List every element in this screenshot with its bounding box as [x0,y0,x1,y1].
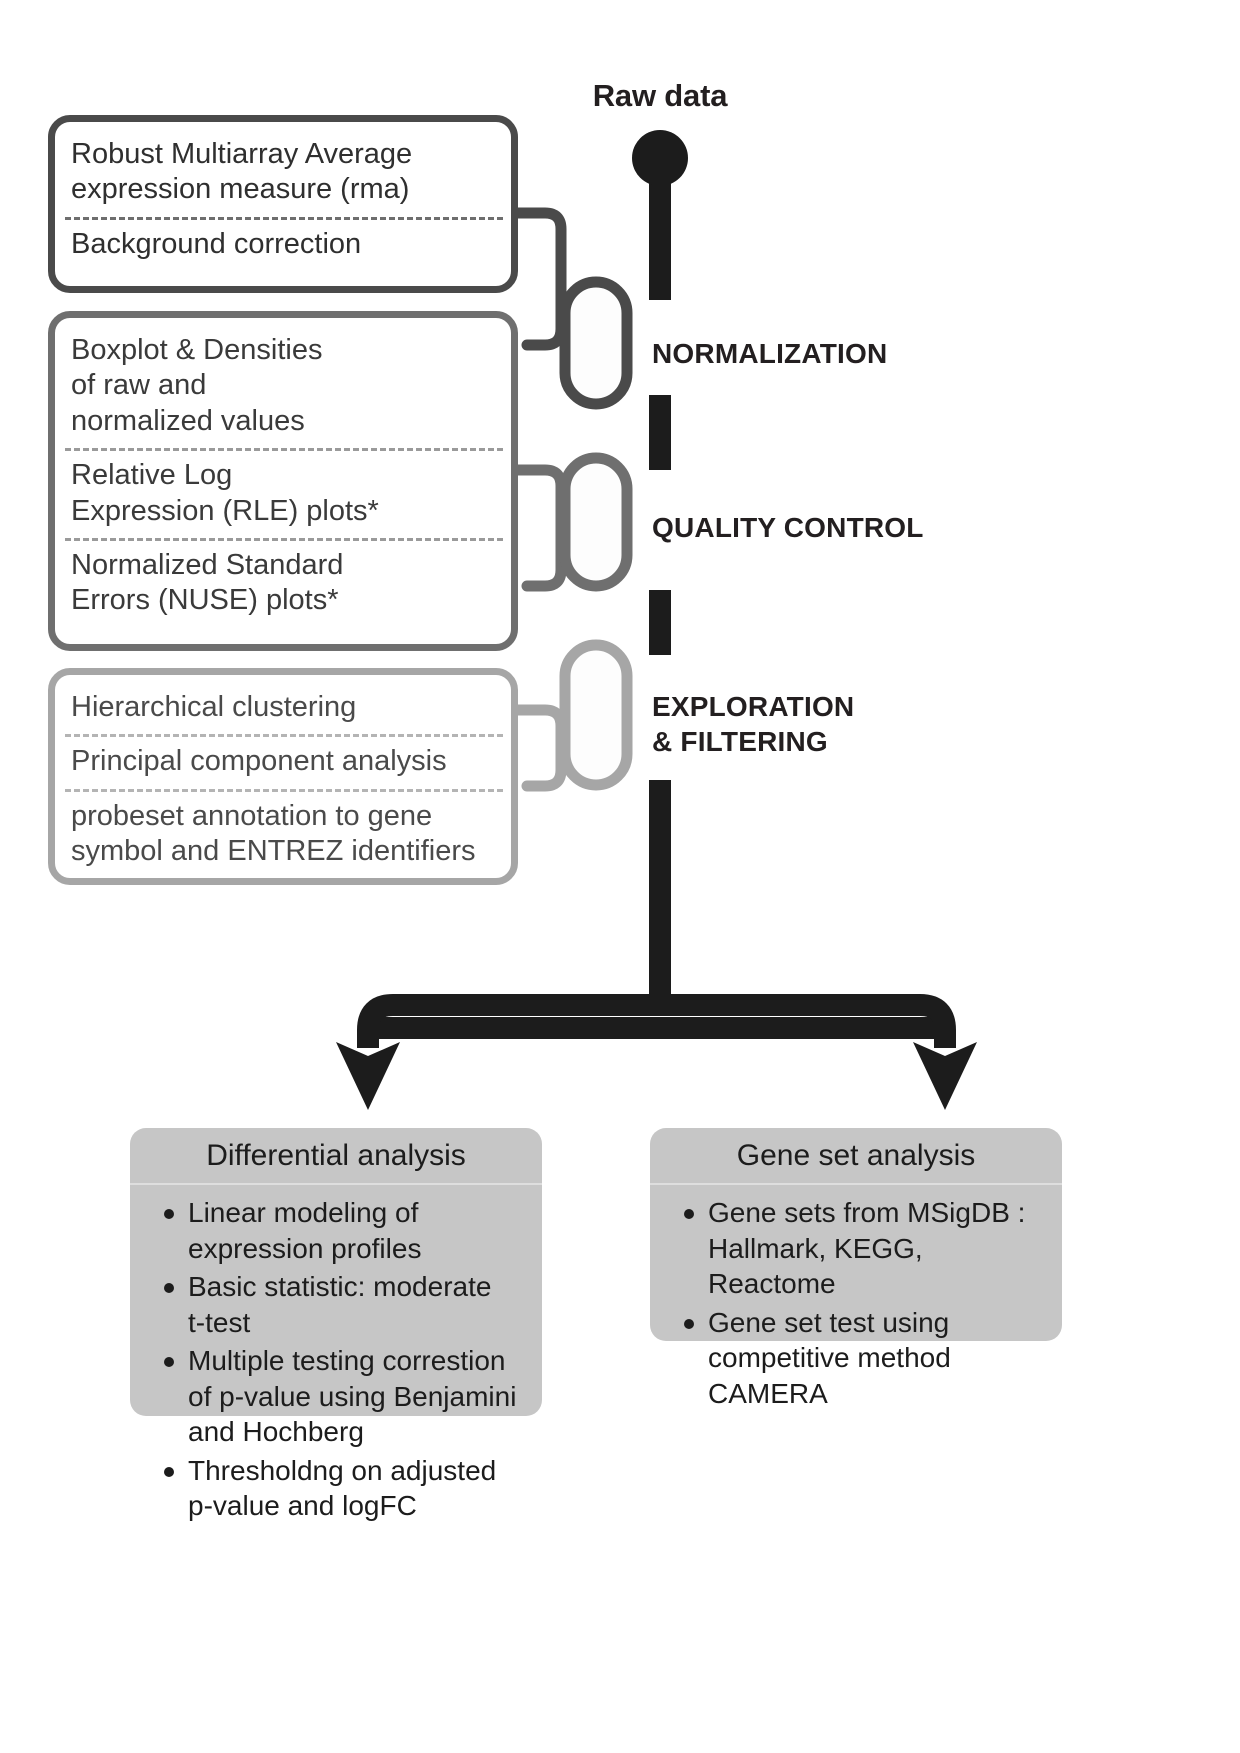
branch-corner-right [660,1005,945,1048]
stage-label-normalization: NORMALIZATION [652,337,887,372]
connector-quality-control [518,470,561,586]
gene-set-analysis-list: Gene sets from MSigDB : Hallmark, KEGG, … [650,1185,1062,1428]
qc-row-boxplot: Boxplot & Densities of raw and normalize… [65,326,503,448]
qc-row-rle: Relative Log Expression (RLE) plots* [65,448,503,538]
capsule-exploration [565,645,627,785]
differential-analysis-list: Linear modeling of expression profiles B… [130,1185,542,1541]
connector-normalization [518,213,561,345]
connector-exploration [518,710,561,786]
list-item: Linear modeling of expression profiles [164,1195,526,1266]
normalization-row-background: Background correction [65,217,503,271]
exploration-card: Hierarchical clustering Principal compon… [48,668,518,885]
capsule-normalization [565,282,627,404]
differential-analysis-title: Differential analysis [130,1128,542,1185]
gene-set-analysis-title: Gene set analysis [650,1128,1062,1185]
list-item: Basic statistic: moderate t-test [164,1269,526,1340]
arrow-gene-set [913,1042,977,1110]
exploration-row-pca: Principal component analysis [65,734,503,788]
quality-control-card: Boxplot & Densities of raw and normalize… [48,311,518,651]
list-item: Gene set test using competitive method C… [684,1305,1046,1412]
normalization-card: Robust Multiarray Average expression mea… [48,115,518,293]
stage-label-quality-control: QUALITY CONTROL [652,511,924,546]
exploration-row-annotation: probeset annotation to gene symbol and E… [65,789,503,879]
page-title: Raw data [430,78,890,114]
capsule-quality-control [565,458,627,586]
list-item: Multiple testing correstion of p-value u… [164,1343,526,1450]
differential-analysis-panel: Differential analysis Linear modeling of… [130,1128,542,1416]
branch-corner-left [368,1005,660,1048]
qc-row-nuse: Normalized Standard Errors (NUSE) plots* [65,538,503,628]
normalization-row-rma: Robust Multiarray Average expression mea… [65,130,503,217]
flowchart-canvas: Raw data Robust Multiarray Average expre… [0,0,1240,1753]
list-item: Gene sets from MSigDB : Hallmark, KEGG, … [684,1195,1046,1302]
list-item: Thresholdng on adjusted p-value and logF… [164,1453,526,1524]
arrow-differential [336,1042,400,1110]
gene-set-analysis-panel: Gene set analysis Gene sets from MSigDB … [650,1128,1062,1341]
raw-data-node [632,130,688,186]
stage-label-exploration-filtering: EXPLORATION & FILTERING [652,690,854,759]
exploration-row-clustering: Hierarchical clustering [65,683,503,734]
